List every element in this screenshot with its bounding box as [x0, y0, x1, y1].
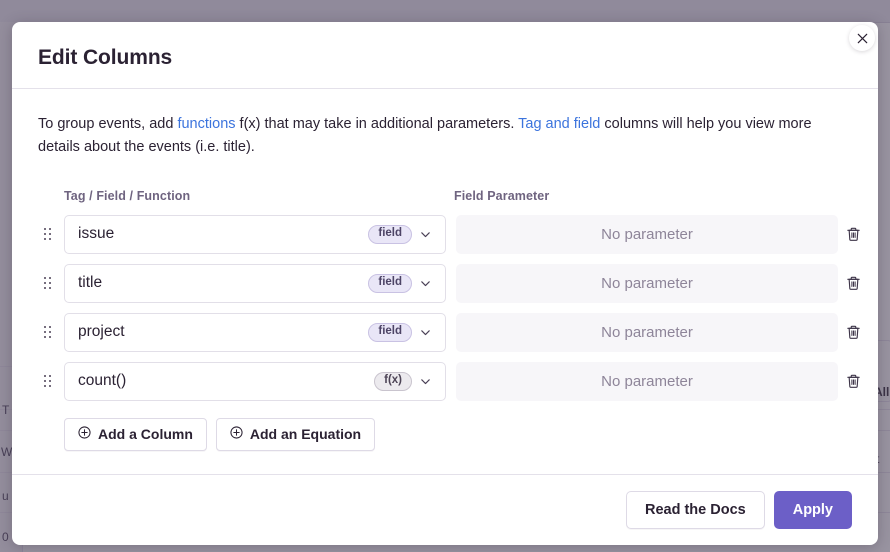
column-header-field-parameter: Field Parameter: [454, 189, 844, 203]
edit-columns-modal: Edit Columns To group events, add functi…: [12, 22, 878, 545]
delete-cell: [838, 321, 865, 344]
field-parameter-3[interactable]: No parameter: [456, 362, 838, 401]
column-select-0[interactable]: issuefield: [64, 215, 446, 254]
trash-icon[interactable]: [842, 272, 865, 295]
column-row: projectfieldNo parameter: [38, 308, 852, 357]
column-select-3[interactable]: count()f(x): [64, 362, 446, 401]
delete-cell: [838, 272, 865, 295]
chevron-down-icon: [419, 375, 432, 388]
functions-link[interactable]: functions: [177, 116, 235, 132]
modal-body: To group events, add functions f(x) that…: [12, 89, 878, 474]
trash-icon[interactable]: [842, 370, 865, 393]
drag-handle-icon[interactable]: [38, 277, 64, 289]
column-row: count()f(x)No parameter: [38, 357, 852, 406]
field-parameter-2[interactable]: No parameter: [456, 313, 838, 352]
field-parameter-placeholder-3: No parameter: [601, 373, 693, 390]
add-a-column-button[interactable]: Add a Column: [64, 418, 207, 451]
chevron-down-icon: [419, 277, 432, 290]
read-the-docs-button[interactable]: Read the Docs: [626, 491, 765, 529]
modal-header: Edit Columns: [12, 22, 878, 89]
chevron-down-icon: [419, 228, 432, 241]
column-rows-container: issuefieldNo parametertitlefieldNo param…: [38, 210, 852, 406]
description-part-1: To group events, add: [38, 116, 177, 132]
column-value-0: issue: [78, 225, 368, 243]
page-title: Edit Columns: [38, 46, 852, 70]
tag-and-field-link[interactable]: Tag and field: [518, 116, 600, 132]
drag-handle-icon[interactable]: [38, 228, 64, 240]
drag-handle-icon[interactable]: [38, 326, 64, 338]
column-row: issuefieldNo parameter: [38, 210, 852, 259]
field-parameter-1[interactable]: No parameter: [456, 264, 838, 303]
trash-icon[interactable]: [842, 321, 865, 344]
circle-plus-icon: [230, 426, 243, 442]
column-value-3: count(): [78, 372, 374, 390]
columns-table-header-row: Tag / Field / Function Field Parameter: [38, 189, 852, 203]
column-kind-badge-2: field: [368, 323, 412, 342]
column-value-2: project: [78, 323, 368, 341]
add-a-column-label: Add a Column: [98, 426, 193, 442]
description-part-2: f(x) that may take in additional paramet…: [236, 116, 519, 132]
circle-plus-icon: [78, 426, 91, 442]
add-actions-row: Add a Column Add an Equation: [38, 418, 852, 451]
column-header-tag-field-function: Tag / Field / Function: [64, 189, 454, 203]
field-parameter-placeholder-0: No parameter: [601, 226, 693, 243]
column-kind-badge-3: f(x): [374, 372, 412, 391]
column-select-2[interactable]: projectfield: [64, 313, 446, 352]
drag-handle-icon[interactable]: [38, 375, 64, 387]
add-an-equation-button[interactable]: Add an Equation: [216, 418, 375, 451]
field-parameter-placeholder-1: No parameter: [601, 275, 693, 292]
field-parameter-0[interactable]: No parameter: [456, 215, 838, 254]
columns-table: Tag / Field / Function Field Parameter i…: [38, 189, 852, 451]
modal-description: To group events, add functions f(x) that…: [38, 113, 838, 159]
delete-cell: [838, 223, 865, 246]
column-kind-badge-1: field: [368, 274, 412, 293]
column-kind-badge-0: field: [368, 225, 412, 244]
column-row: titlefieldNo parameter: [38, 259, 852, 308]
field-parameter-placeholder-2: No parameter: [601, 324, 693, 341]
column-select-1[interactable]: titlefield: [64, 264, 446, 303]
close-icon[interactable]: [849, 25, 875, 51]
trash-icon[interactable]: [842, 223, 865, 246]
column-value-1: title: [78, 274, 368, 292]
delete-cell: [838, 370, 865, 393]
apply-button[interactable]: Apply: [774, 491, 852, 529]
chevron-down-icon: [419, 326, 432, 339]
add-an-equation-label: Add an Equation: [250, 426, 361, 442]
modal-footer: Read the Docs Apply: [12, 474, 878, 545]
